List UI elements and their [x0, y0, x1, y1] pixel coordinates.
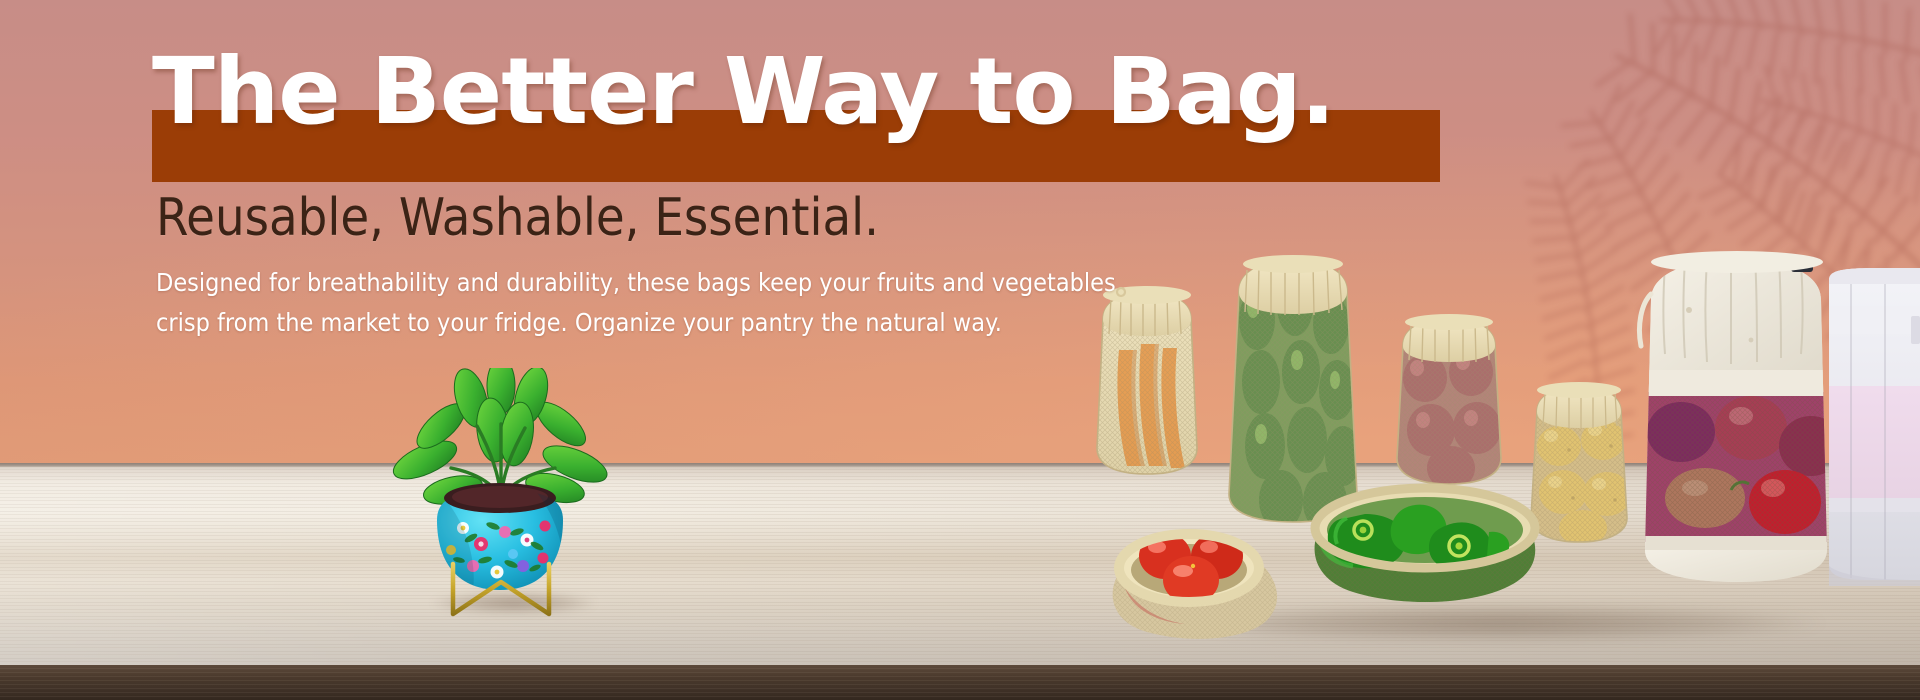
body-copy: Designed for breathability and durabilit…	[156, 263, 1246, 343]
subheadline: Reusable, Washable, Essential.	[156, 189, 1452, 247]
hero-copy-block: The Better Way to Bag. Reusable, Washabl…	[152, 40, 1452, 343]
tomato-open-bag	[1113, 533, 1277, 639]
hero-banner: The Better Way to Bag. Reusable, Washabl…	[0, 0, 1920, 700]
green-pepper-open-bag	[1315, 488, 1536, 602]
body-copy-line-1: Designed for breathability and durabilit…	[156, 263, 1246, 303]
body-copy-line-2: crisp from the market to your fridge. Or…	[156, 303, 1246, 343]
plain-cotton-bag	[1829, 268, 1920, 586]
cotton-mesh-window-bag	[1639, 250, 1843, 590]
table-front-edge	[0, 665, 1920, 700]
potted-houseplant	[385, 368, 615, 630]
headline-wrapper: The Better Way to Bag.	[152, 40, 1452, 155]
page-title: The Better Way to Bag.	[152, 40, 1452, 144]
